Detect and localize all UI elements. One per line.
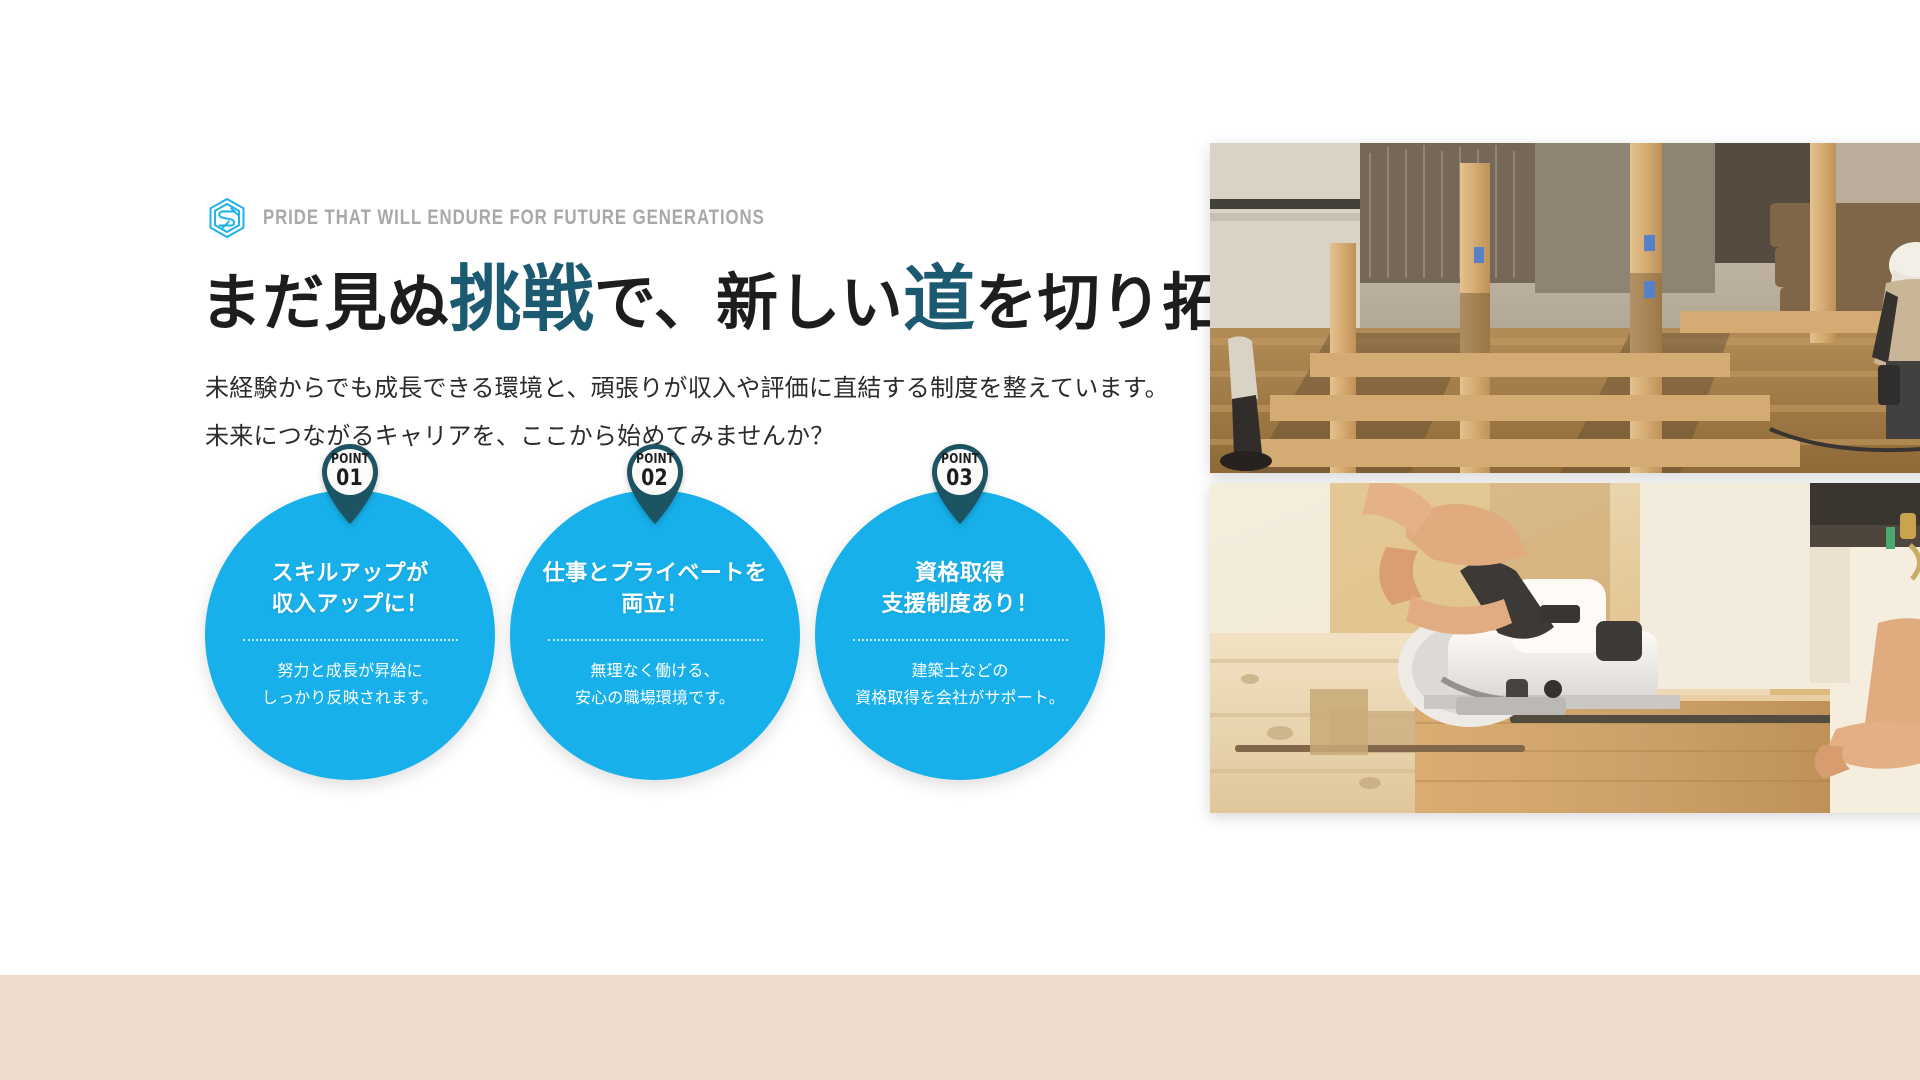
construction-site-framing-photo <box>1210 143 1920 473</box>
points-group: スキルアップが 収入アップに！ 努力と成長が昇給に しっかり反映されます。 <box>205 470 1120 790</box>
hero-left-column: PRIDE THAT WILL ENDURE FOR FUTURE GENERA… <box>0 0 1210 1080</box>
point-divider <box>243 639 458 641</box>
point-description: 建築士などの 資格取得を会社がサポート。 <box>833 657 1087 712</box>
headline-part-plain-2: で、新しい <box>594 266 903 339</box>
hexagon-s-logo-icon <box>205 196 249 240</box>
point-circle: 仕事とプライベートを 両立！ 無理なく働ける、 安心の職場環境です。 <box>510 490 800 780</box>
point-desc-line-2: 資格取得を会社がサポート。 <box>833 684 1087 712</box>
point-description: 無理なく働ける、 安心の職場環境です。 <box>528 657 782 712</box>
point-circle: スキルアップが 収入アップに！ 努力と成長が昇給に しっかり反映されます。 <box>205 490 495 780</box>
point-divider <box>548 639 763 641</box>
point-desc-line-2: 安心の職場環境です。 <box>528 684 782 712</box>
brand-tagline: PRIDE THAT WILL ENDURE FOR FUTURE GENERA… <box>263 206 765 230</box>
point-card-01: スキルアップが 収入アップに！ 努力と成長が昇給に しっかり反映されます。 <box>205 490 495 780</box>
point-title-line-1: 仕事とプライベートを <box>528 558 782 589</box>
page-title: まだ見ぬ挑戦で、新しい道を切り拓く <box>200 258 1287 341</box>
point-desc-line-1: 努力と成長が昇給に <box>223 657 477 685</box>
point-pin-badge: POINT 02 <box>621 438 689 524</box>
point-desc-line-1: 建築士などの <box>833 657 1087 685</box>
point-title-line-1: スキルアップが <box>223 558 477 589</box>
headline-accent-path: 道 <box>903 256 975 341</box>
brand-eyebrow: PRIDE THAT WILL ENDURE FOR FUTURE GENERA… <box>205 196 890 240</box>
point-title-line-1: 資格取得 <box>833 558 1087 589</box>
point-pin-badge: POINT 01 <box>316 438 384 524</box>
page-root: PRIDE THAT WILL ENDURE FOR FUTURE GENERA… <box>0 0 1920 1080</box>
point-pin-badge: POINT 03 <box>926 438 994 524</box>
point-card-02: 仕事とプライベートを 両立！ 無理なく働ける、 安心の職場環境です。 <box>510 490 800 780</box>
headline-accent-challenge: 挑戦 <box>449 256 594 341</box>
point-description: 努力と成長が昇給に しっかり反映されます。 <box>223 657 477 712</box>
point-desc-line-1: 無理なく働ける、 <box>528 657 782 685</box>
point-title: スキルアップが 収入アップに！ <box>223 558 477 620</box>
hero-description-line-1: 未経験からでも成長できる環境と、頑張りが収入や評価に直結する制度を整えています。 <box>205 364 1169 412</box>
headline-part-plain-1: まだ見ぬ <box>200 266 449 339</box>
footer-color-band <box>0 975 1920 1080</box>
point-desc-line-2: しっかり反映されます。 <box>223 684 477 712</box>
point-title: 仕事とプライベートを 両立！ <box>528 558 782 620</box>
point-title-line-2: 収入アップに！ <box>223 589 477 620</box>
point-title-line-2: 両立！ <box>528 589 782 620</box>
point-card-03: 資格取得 支援制度あり！ 建築士などの 資格取得を会社がサポート。 <box>815 490 1105 780</box>
point-title-line-2: 支援制度あり！ <box>833 589 1087 620</box>
point-title: 資格取得 支援制度あり！ <box>833 558 1087 620</box>
carpenter-circular-saw-photo <box>1210 483 1920 813</box>
point-divider <box>853 639 1068 641</box>
point-circle: 資格取得 支援制度あり！ 建築士などの 資格取得を会社がサポート。 <box>815 490 1105 780</box>
